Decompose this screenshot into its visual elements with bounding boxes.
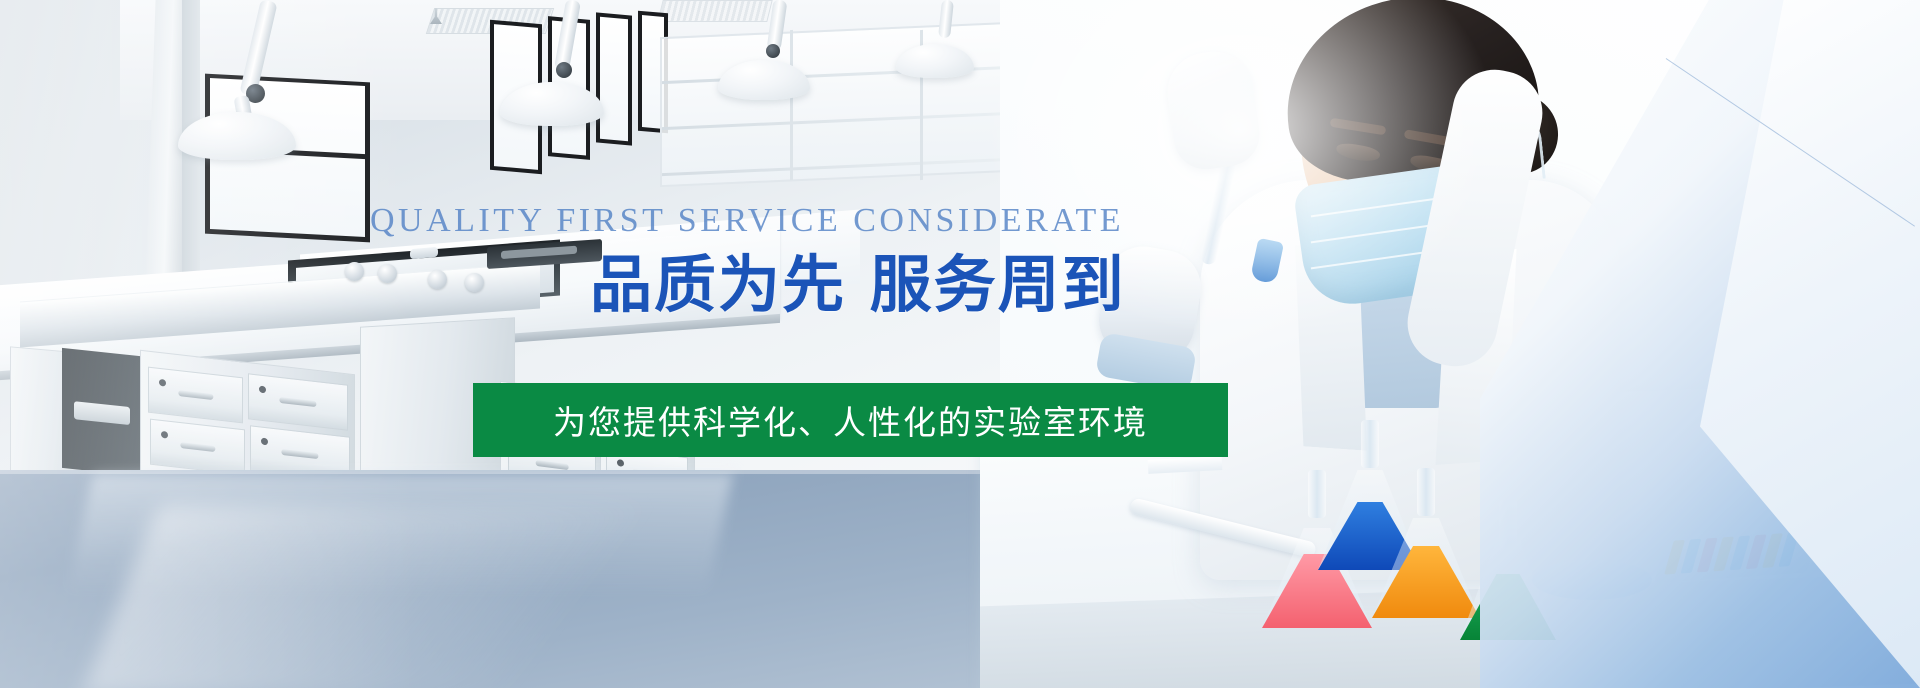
english-tagline: QUALITY FIRST SERVICE CONSIDERATE [370, 204, 1124, 238]
subtitle-band: 为您提供科学化、人性化的实验室环境 [473, 383, 1228, 457]
text-overlay: QUALITY FIRST SERVICE CONSIDERATE 品质为先 服… [0, 0, 1920, 688]
main-headline: 品质为先 服务周到 [590, 252, 1126, 317]
hero-banner: QUALITY FIRST SERVICE CONSIDERATE 品质为先 服… [0, 0, 1920, 688]
subtitle-text: 为您提供科学化、人性化的实验室环境 [553, 396, 1148, 444]
